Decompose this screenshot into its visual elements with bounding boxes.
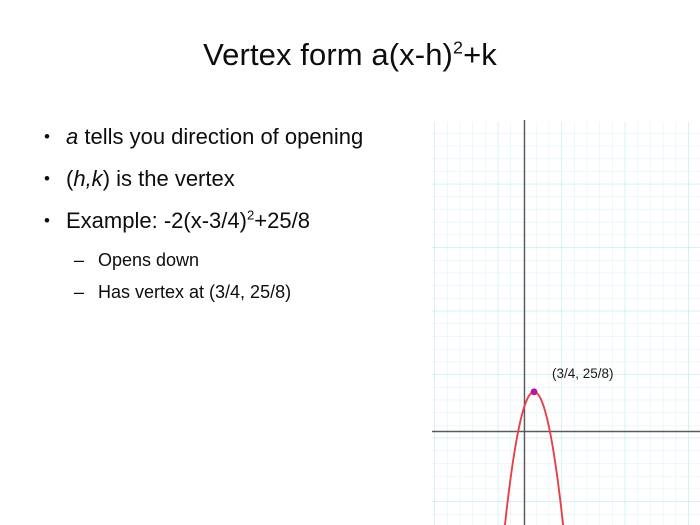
bullet-list: • a tells you direction of opening • (h,… [36,124,456,314]
bullet-1-seg-2: ) is the vertex [103,166,235,191]
sub-list-item-text: Opens down [98,250,199,270]
list-item-text: (h,k) is the vertex [66,166,235,191]
sub-list-item-text: Has vertex at (3/4, 25/8) [98,282,291,302]
bullet-marker-icon: • [44,124,50,149]
list-item: • Example: -2(x-3/4)2+25/8 [36,208,456,233]
bullet-2-seg-2: +25/8 [254,208,310,233]
bullet-marker-icon: • [44,208,50,233]
page-title: Vertex form a(x-h)2+k [0,36,700,74]
list-item: • a tells you direction of opening [36,124,456,149]
vertex-point [531,388,538,395]
title-text-post: +k [463,37,497,72]
list-item-text: a tells you direction of opening [66,124,363,149]
graph-major-grid [432,122,700,525]
list-item: • (h,k) is the vertex [36,166,456,191]
title-text-pre: Vertex form a(x-h) [203,37,453,72]
graph-svg [432,120,700,525]
parabola-graph: (3/4, 25/8) [432,120,700,525]
dash-marker-icon: – [74,250,84,271]
dash-marker-icon: – [74,282,84,303]
bullet-0-seg-0: a [66,124,78,149]
bullet-2-seg-0: Example: -2(x-3/4) [66,208,247,233]
sub-list-item: – Opens down [36,250,456,271]
sub-list-item: – Has vertex at (3/4, 25/8) [36,282,456,303]
list-item-text: Example: -2(x-3/4)2+25/8 [66,208,310,233]
vertex-coordinate-label: (3/4, 25/8) [552,366,614,381]
bullet-1-seg-1: h,k [73,166,102,191]
slide-canvas: Vertex form a(x-h)2+k • a tells you dire… [0,0,700,525]
bullet-marker-icon: • [44,166,50,191]
title-exponent: 2 [453,38,463,58]
bullet-0-seg-1: tells you direction of opening [78,124,363,149]
